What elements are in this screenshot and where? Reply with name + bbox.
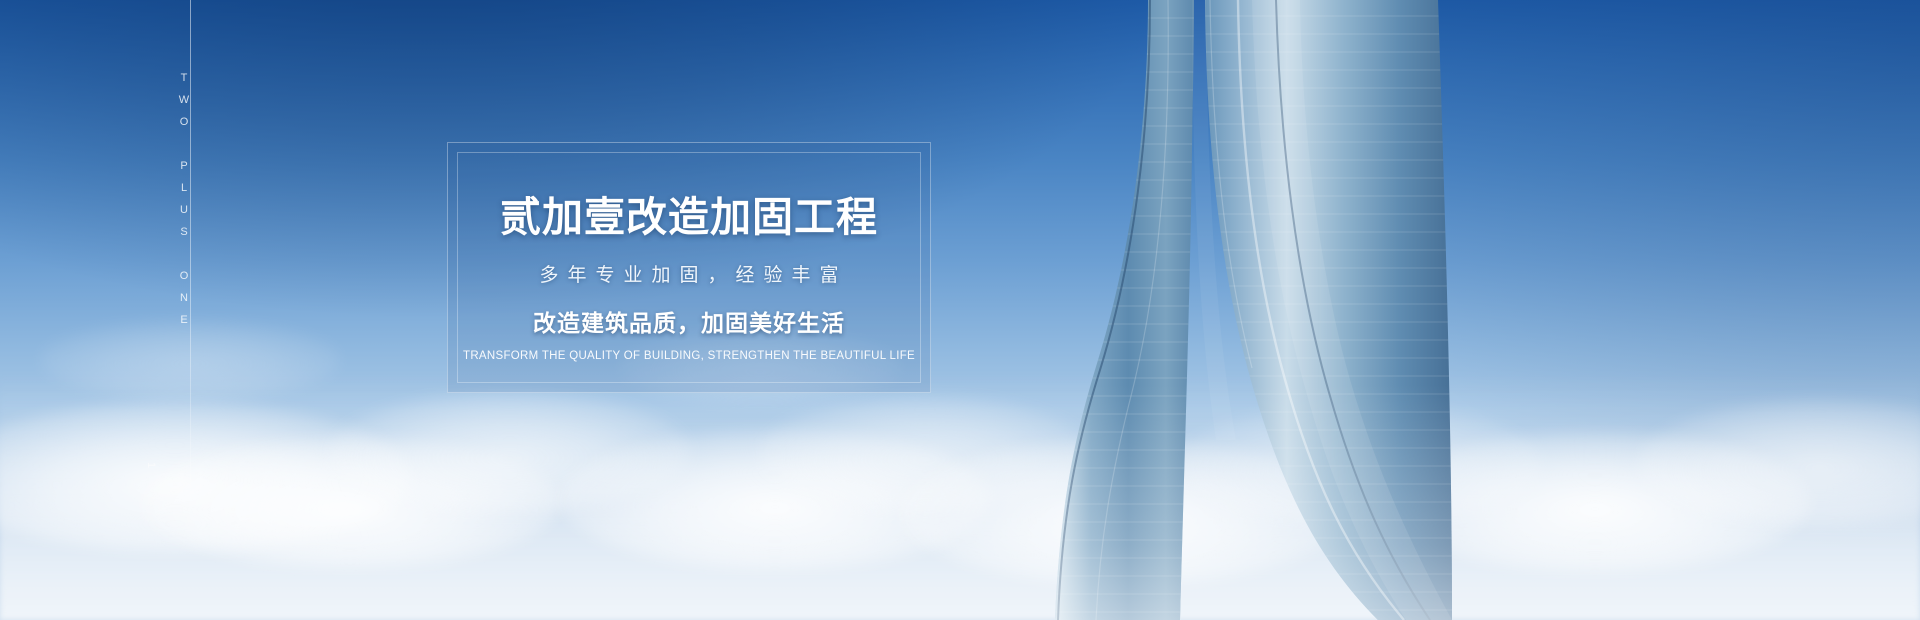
tower-left — [1040, 0, 1210, 620]
tower-right — [1195, 0, 1465, 620]
vertical-slide-number: 1 — [145, 462, 157, 470]
hero-tagline: 改造建筑品质，加固美好生活 — [533, 312, 845, 335]
hero-title: 贰加壹改造加固工程 — [500, 197, 878, 238]
hero-panel-inner-border: 贰加壹改造加固工程 多年专业加固，经验丰富 改造建筑品质，加固美好生活 TRAN… — [457, 152, 921, 383]
hero-banner: TWO PLUS ONE 1 贰加壹改造加固工程 多年专业加固，经验丰富 改造建… — [0, 0, 1920, 620]
hero-panel-content: 贰加壹改造加固工程 多年专业加固，经验丰富 改造建筑品质，加固美好生活 TRAN… — [458, 153, 920, 382]
hero-subtitle: 多年专业加固，经验丰富 — [530, 266, 847, 285]
skyscrapers-illustration — [0, 0, 1920, 620]
vertical-brand-label: TWO PLUS ONE — [178, 72, 190, 336]
hero-english-caption: TRANSFORM THE QUALITY OF BUILDING, STREN… — [463, 351, 915, 363]
hero-text-panel: 贰加壹改造加固工程 多年专业加固，经验丰富 改造建筑品质，加固美好生活 TRAN… — [447, 142, 931, 393]
vertical-divider-line — [190, 0, 191, 500]
